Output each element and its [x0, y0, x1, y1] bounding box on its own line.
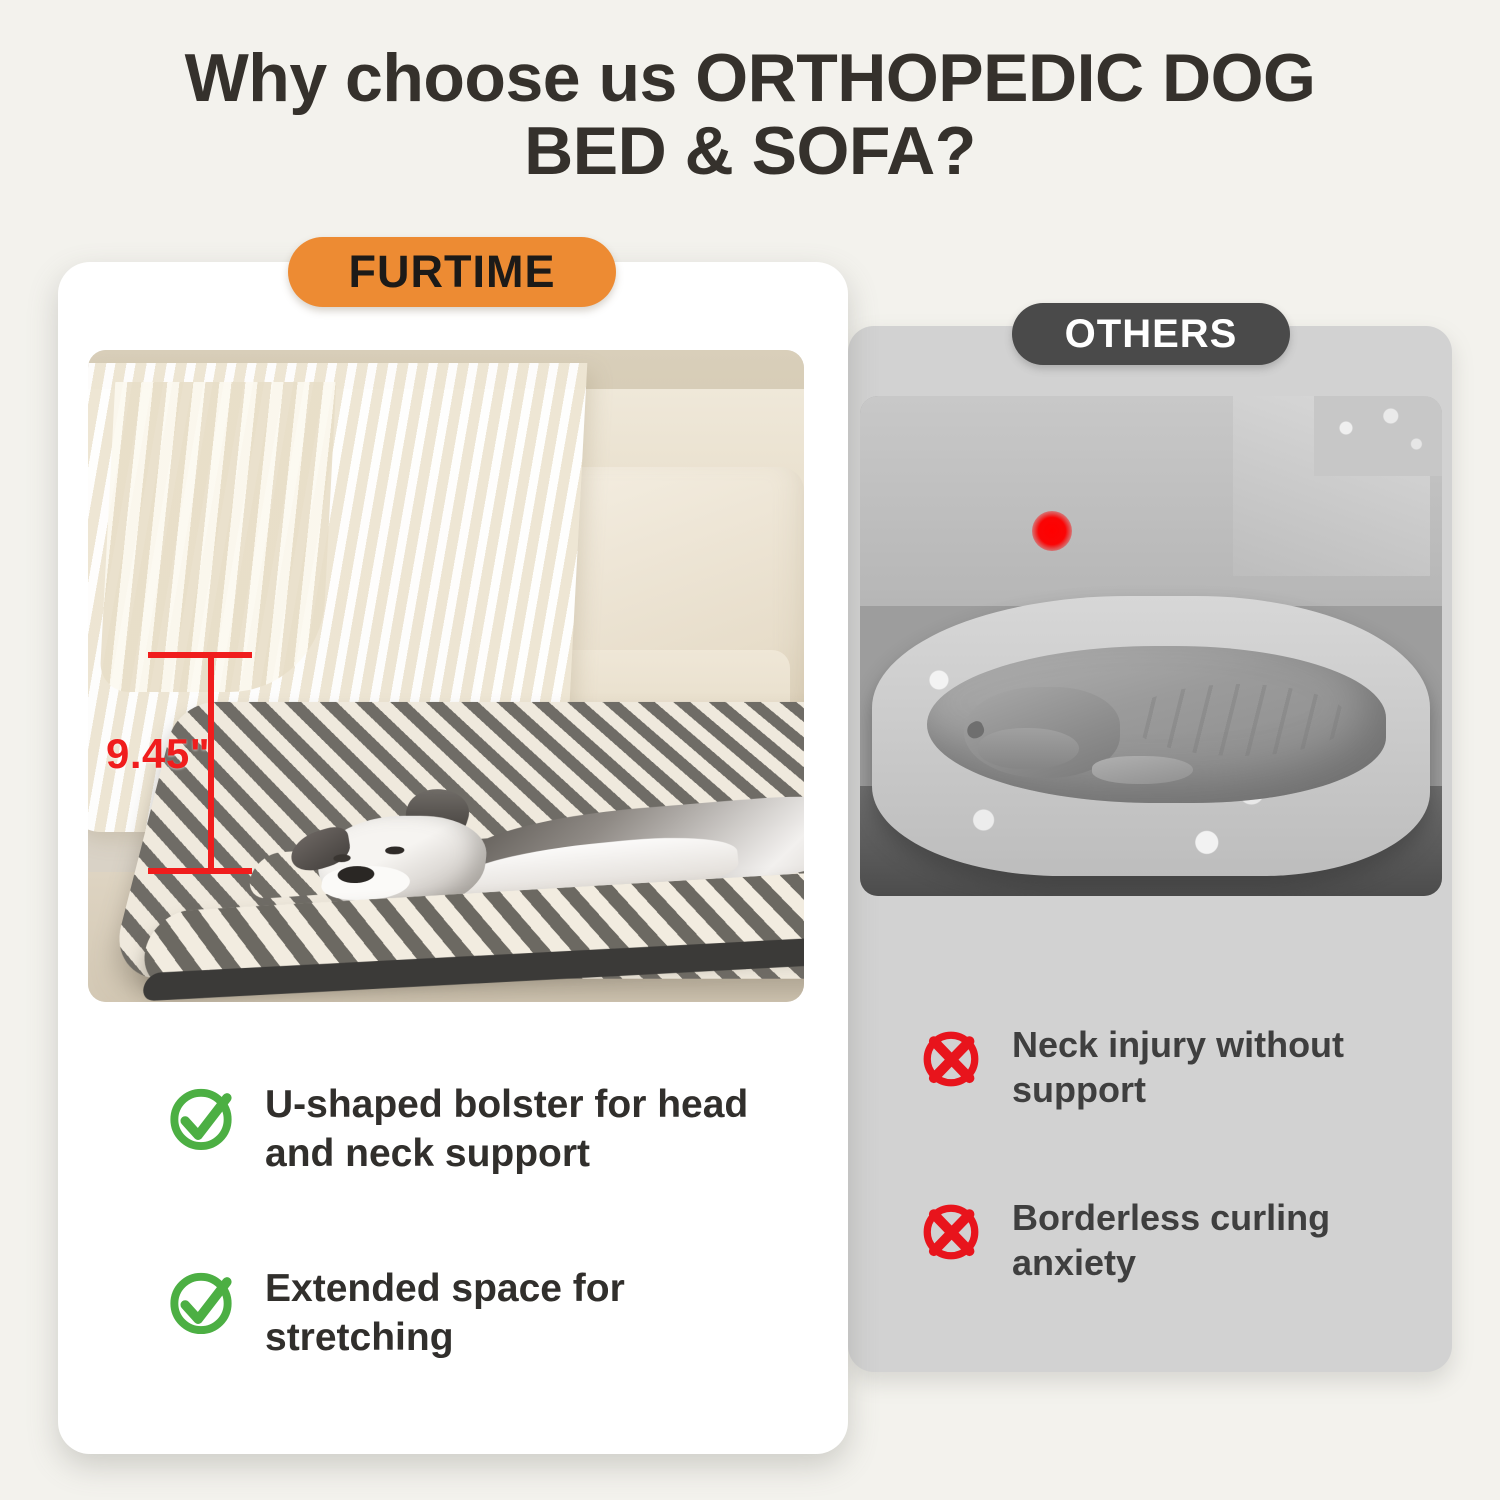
- check-circle-icon: [165, 1082, 237, 1154]
- dimension-tick-bottom: [148, 868, 252, 874]
- furtime-feature-list: U-shaped bolster for head and neck suppo…: [165, 1080, 765, 1363]
- others-photo-dog-body: [927, 646, 1385, 803]
- pain-point-marker-icon: [1032, 511, 1072, 551]
- others-photo-dog-wrinkles: [1129, 684, 1349, 756]
- others-photo-round-bed: [872, 596, 1431, 876]
- cross-circle-icon: [918, 1197, 984, 1263]
- dimension-tick-top: [148, 652, 252, 658]
- list-item-label: Borderless curling anxiety: [1012, 1195, 1388, 1286]
- others-photo-lace: [1314, 396, 1442, 476]
- list-item-label: Extended space for stretching: [265, 1264, 765, 1362]
- list-item: Neck injury without support: [918, 1022, 1388, 1113]
- others-feature-list: Neck injury without support Borderless c…: [918, 1022, 1388, 1285]
- furtime-badge: FURTIME: [288, 237, 616, 307]
- cross-circle-icon: [918, 1024, 984, 1090]
- others-photo-dog-muzzle: [978, 728, 1079, 769]
- list-item: U-shaped bolster for head and neck suppo…: [165, 1080, 765, 1178]
- list-item: Extended space for stretching: [165, 1264, 765, 1362]
- others-photo: [860, 396, 1442, 896]
- list-item: Borderless curling anxiety: [918, 1195, 1388, 1286]
- bed-height-measurement-label: 9.45": [106, 730, 210, 778]
- others-badge: OTHERS: [1012, 303, 1290, 365]
- comparison-area: 9.45" FURTIME OTHERS U-shaped bolster fo…: [0, 0, 1500, 1500]
- list-item-label: U-shaped bolster for head and neck suppo…: [265, 1080, 765, 1178]
- list-item-label: Neck injury without support: [1012, 1022, 1388, 1113]
- furtime-photo-knit-throw-fold: [99, 382, 336, 692]
- others-photo-dog-paw: [1092, 756, 1193, 784]
- check-circle-icon: [165, 1266, 237, 1338]
